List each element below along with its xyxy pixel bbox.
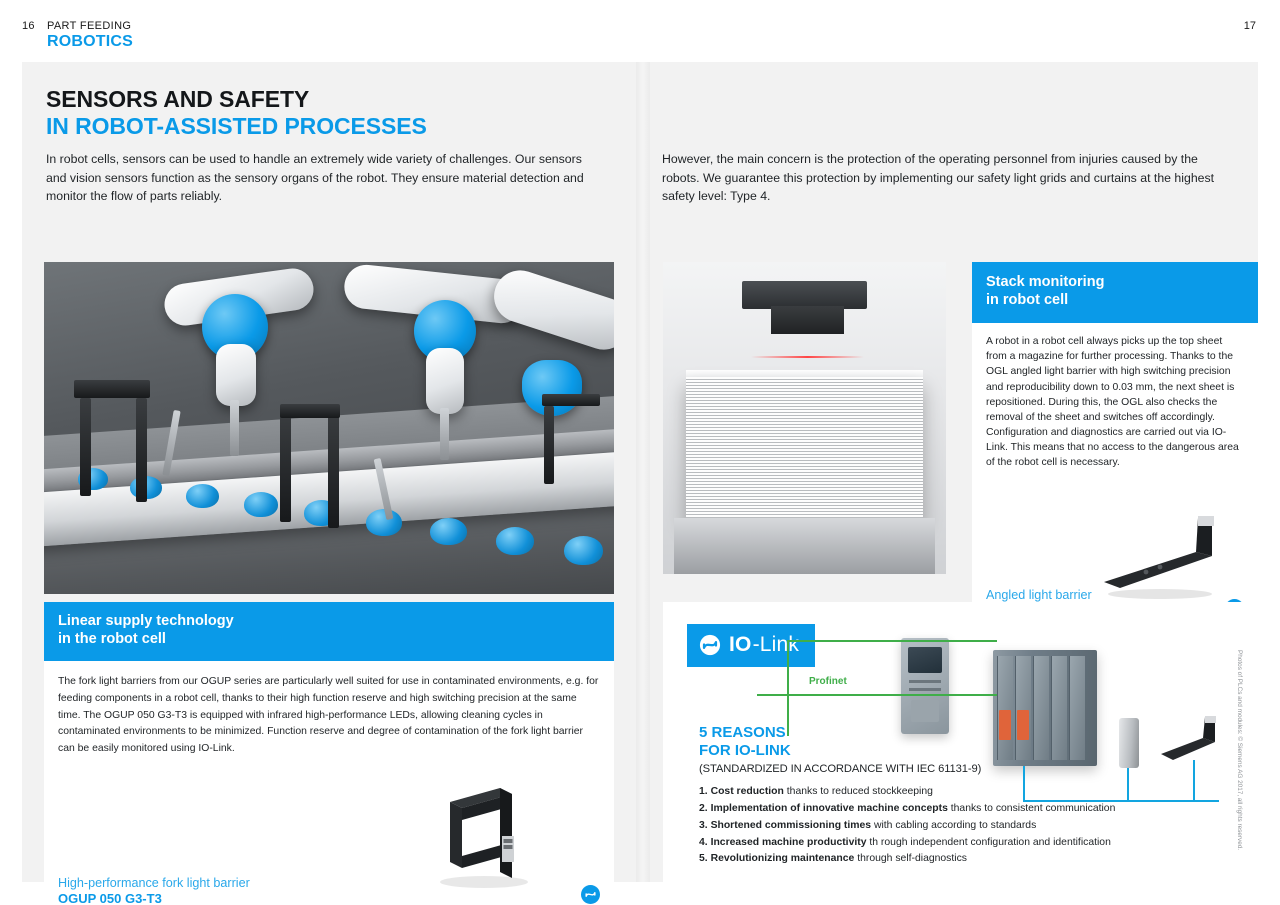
page-gutter (636, 62, 650, 882)
robot-arm-segment (487, 264, 614, 357)
io-link-wave-icon (581, 885, 600, 904)
ogl-caption-top: Angled light barrier (986, 587, 1092, 603)
stack-base (674, 518, 934, 574)
plc-module (1051, 656, 1067, 760)
page-title-line2: IN ROBOT-ASSISTED PROCESSES (46, 113, 427, 140)
sensor-bracket (136, 398, 147, 502)
ogl-product-image (1100, 508, 1228, 600)
folio-right: 17 (1244, 20, 1256, 32)
robot-arm-segment (216, 344, 256, 406)
robot-cell-photo (44, 262, 614, 594)
sensor-bracket (80, 398, 91, 496)
page-title-line1: SENSORS AND SAFETY (46, 86, 427, 113)
angled-barrier-shape (1159, 714, 1221, 766)
robot-tool (440, 408, 449, 460)
reason-rest: th rough independent configuration and i… (869, 837, 1110, 848)
gantry-head (771, 306, 845, 334)
linear-card-body: The fork light barriers from our OGUP se… (44, 661, 614, 758)
io-link-subheading: (STANDARDIZED IN ACCORDANCE WITH IEC 611… (699, 763, 981, 775)
linear-card-header: Linear supply technology in the robot ce… (44, 602, 614, 661)
reason-number: 1. (699, 786, 708, 797)
light-beam (751, 356, 864, 358)
stack-card-header: Stack monitoring in robot cell (972, 262, 1258, 323)
reason-rest: thanks to consistent communication (951, 803, 1116, 814)
workpiece-cup (186, 484, 219, 508)
reason-rest: through self-diagnostics (857, 853, 967, 864)
angled-light-barrier-sensor (1159, 714, 1221, 766)
running-head-kicker: PART FEEDING (47, 20, 131, 32)
reason-rest: with cabling according to standards (874, 820, 1036, 831)
io-link-badge-light: -Link (753, 633, 800, 657)
profinet-cable (787, 640, 997, 642)
io-link-reasons-list: 1. Cost reduction thanks to reduced stoc… (699, 784, 1115, 868)
stack-monitoring-card: Stack monitoring in robot cell A robot i… (972, 262, 1258, 634)
ogup-fork-shape (436, 782, 566, 892)
reason-bold: Shortened commissioning times (711, 820, 872, 831)
reason-number: 5. (699, 853, 708, 864)
profinet-label: Profinet (809, 676, 847, 687)
stack-card-header-line1: Stack monitoring (986, 274, 1244, 292)
ogup-product-image (436, 782, 566, 892)
reason-number: 3. (699, 820, 708, 831)
ogup-caption-bottom: OGUP 050 G3-T3 (58, 891, 250, 905)
io-link-heading-line1: 5 REASONS (699, 724, 981, 742)
folio-left: 16 (22, 20, 35, 32)
gantry-rail (742, 281, 867, 309)
sensor-bracket (328, 412, 339, 528)
running-head-brand: ROBOTICS (47, 33, 133, 51)
sheet-stack (686, 377, 924, 521)
io-link-badge: IO -Link (687, 624, 815, 667)
hmi-panel (901, 638, 949, 734)
workpiece-cup (366, 509, 402, 536)
list-item: 5. Revolutionizing maintenance through s… (699, 851, 1115, 868)
sensor-bracket (280, 404, 340, 418)
list-item: 3. Shortened commissioning times with ca… (699, 818, 1115, 835)
spread-canvas: SENSORS AND SAFETY IN ROBOT-ASSISTED PRO… (22, 62, 1258, 882)
sensor-bracket (280, 412, 291, 522)
sensor-bracket (544, 406, 554, 484)
plc-module (1033, 656, 1049, 760)
list-item: 1. Cost reduction thanks to reduced stoc… (699, 784, 1115, 801)
plc-module (1015, 656, 1031, 760)
io-link-wave-glyph (584, 888, 597, 901)
ogl-sensor-shape (1100, 508, 1228, 600)
io-link-heading: 5 REASONS FOR IO-LINK (STANDARDIZED IN A… (699, 724, 981, 775)
profinet-cable (787, 640, 789, 736)
plc-module (1069, 656, 1085, 760)
io-link-card: IO -Link (663, 602, 1258, 905)
io-link-cable (1193, 760, 1195, 802)
stack-card-body: A robot in a robot cell always picks up … (972, 323, 1258, 471)
robot-arm-segment (426, 348, 464, 414)
linear-card-header-line2: in the robot cell (58, 631, 600, 649)
reason-bold: Revolutionizing maintenance (711, 853, 855, 864)
io-link-heading-line2: FOR IO-LINK (699, 742, 981, 760)
reason-bold: Cost reduction (711, 786, 784, 797)
running-head: 16 PART FEEDING ROBOTICS 17 (0, 0, 1280, 62)
linear-supply-card: Linear supply technology in the robot ce… (44, 602, 614, 905)
reason-bold: Implementation of innovative machine con… (711, 803, 948, 814)
io-link-logo-icon (699, 634, 721, 656)
sensor-bracket (74, 380, 150, 398)
intro-paragraph-right: However, the main concern is the protect… (662, 150, 1227, 206)
sheet-stack-photo (663, 262, 946, 574)
plc-rack (993, 650, 1097, 766)
sensor-bracket (542, 394, 600, 406)
io-link-badge-bold: IO (729, 633, 752, 657)
photo-credit: Photos of PLCs and modules: © Siemens AG… (1236, 650, 1243, 850)
reason-number: 2. (699, 803, 708, 814)
list-item: 2. Implementation of innovative machine … (699, 801, 1115, 818)
workpiece-cup (430, 518, 467, 545)
workpiece-cup (564, 536, 603, 565)
cylindrical-sensor (1119, 718, 1139, 768)
reason-number: 4. (699, 837, 708, 848)
document-spread: 16 PART FEEDING ROBOTICS 17 SENSORS AND … (0, 0, 1280, 905)
ogup-caption-top: High-performance fork light barrier (58, 875, 250, 891)
plc-module (997, 656, 1013, 760)
workpiece-cup (496, 527, 534, 555)
intro-paragraph-left: In robot cells, sensors can be used to h… (46, 150, 591, 206)
profinet-cable (757, 694, 997, 696)
io-link-cable (1127, 764, 1129, 802)
workpiece-cup (244, 492, 278, 517)
stack-card-header-line2: in robot cell (986, 292, 1244, 310)
reason-rest: thanks to reduced stockkeeping (787, 786, 933, 797)
linear-card-header-line1: Linear supply technology (58, 613, 600, 631)
page-title: SENSORS AND SAFETY IN ROBOT-ASSISTED PRO… (46, 86, 427, 139)
hmi-screen (908, 647, 942, 673)
list-item: 4. Increased machine productivity th rou… (699, 835, 1115, 852)
ogup-caption: High-performance fork light barrier OGUP… (58, 875, 250, 905)
robot-tool (230, 400, 239, 456)
reason-bold: Increased machine productivity (711, 837, 867, 848)
